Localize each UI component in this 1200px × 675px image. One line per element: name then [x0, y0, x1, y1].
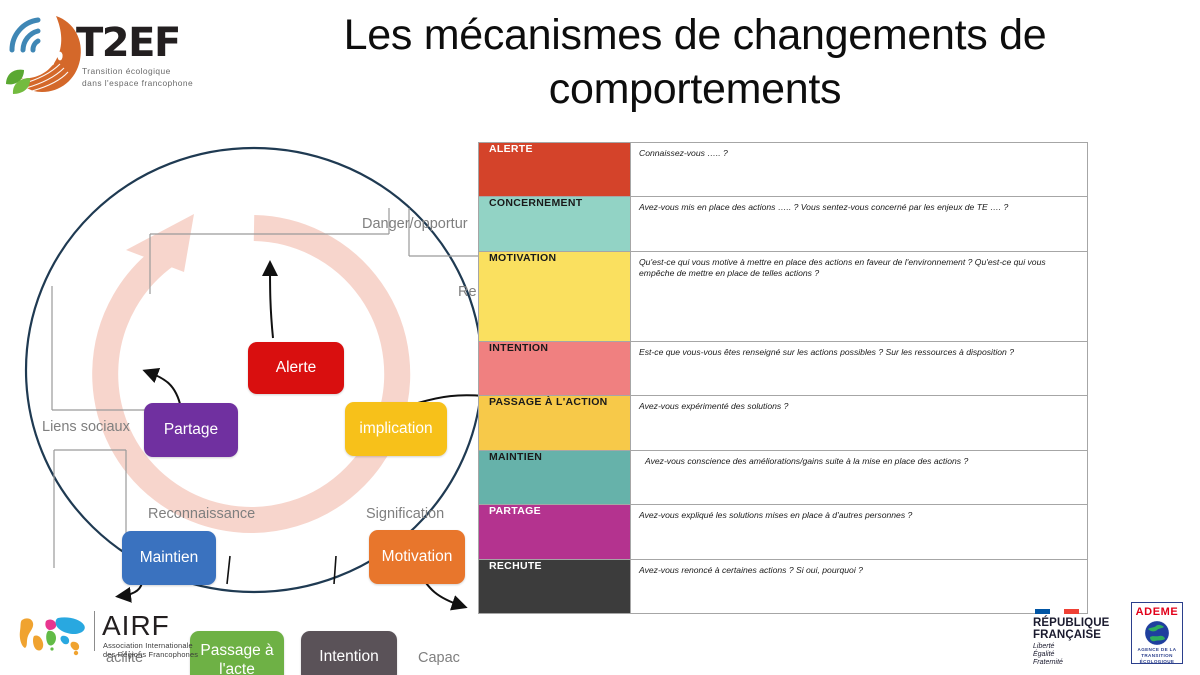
diagram-label-re: Re [458, 284, 477, 300]
stage-cell: RECHUTE [479, 559, 631, 613]
diagram-node-label: Maintien [140, 549, 199, 567]
diagram-node-intention[interactable]: Intention [301, 631, 397, 675]
ademe-wordmark: ADEME [1132, 606, 1182, 618]
airf-wordmark: AIRF [102, 610, 170, 642]
diagram-node-label: Alerte [276, 359, 317, 377]
french-flag-icon [1035, 609, 1079, 614]
stage-cell: PARTAGE [479, 505, 631, 559]
table-row: MOTIVATION Qu'est-ce qui vous motive à m… [479, 251, 1088, 341]
question-text: Avez-vous expliqué les solutions mises e… [639, 510, 912, 520]
stage-cell: MOTIVATION [479, 251, 631, 341]
ademe-logo: ADEME AGENCE DE LA TRANSITION ÉCOLOGIQUE [1131, 602, 1183, 664]
diagram-node-motivation[interactable]: Motivation [369, 530, 465, 584]
question-cell: Connaissez-vous ….. ? [631, 143, 1088, 197]
rf-line1: RÉPUBLIQUE [1033, 617, 1109, 629]
stage-cell: ALERTE [479, 143, 631, 197]
diagram-node-alerte[interactable]: Alerte [248, 342, 344, 394]
republique-francaise-logo: RÉPUBLIQUE FRANÇAISE Liberté Égalité Fra… [1033, 609, 1125, 667]
stage-cell: PASSAGE À L'ACTION [479, 396, 631, 450]
question-cell: Avez-vous mis en place des actions ….. ?… [631, 197, 1088, 251]
question-text: Connaissez-vous ….. ? [639, 148, 728, 158]
table-row: RECHUTE Avez-vous renoncé à certaines ac… [479, 559, 1088, 613]
stage-cell: INTENTION [479, 341, 631, 395]
question-text: Avez-vous mis en place des actions ….. ?… [639, 202, 1008, 212]
table-row: PASSAGE À L'ACTION Avez-vous expérimenté… [479, 396, 1088, 450]
slide-canvas: Les mécanismes de changements de comport… [0, 0, 1200, 675]
t2ef-wordmark: T2EF [76, 20, 180, 66]
globe-icon [1144, 620, 1170, 646]
diagram-node-label: implication [359, 420, 432, 438]
diagram-node-label: Motivation [382, 548, 453, 566]
question-text: Avez-vous conscience des améliorations/g… [639, 456, 968, 466]
t2ef-tagline-line1: Transition écologique [82, 66, 171, 76]
diagram-label-capacite: Capac [418, 650, 460, 666]
question-cell: Avez-vous expliqué les solutions mises e… [631, 505, 1088, 559]
question-text: Avez-vous renoncé à certaines actions ? … [639, 565, 863, 575]
stage-label: MOTIVATION [489, 252, 556, 264]
diagram-node-implication[interactable]: implication [345, 402, 447, 456]
ademe-sub-line2: TRANSITION [1132, 653, 1182, 658]
table-row: CONCERNEMENT Avez-vous mis en place des … [479, 197, 1088, 251]
question-cell: Avez-vous renoncé à certaines actions ? … [631, 559, 1088, 613]
ademe-sub-line1: AGENCE DE LA [1132, 647, 1182, 652]
stage-label: PASSAGE À L'ACTION [489, 396, 608, 408]
world-map-icon [16, 612, 90, 658]
behaviour-change-cycle-diagram: Alerte implication Motivation Intention … [18, 138, 490, 616]
airf-divider [94, 611, 95, 651]
rf-motto-fraternite: Fraternité [1033, 659, 1063, 666]
diagram-label-danger-opportunite: Danger/opportur [362, 216, 468, 232]
question-cell: Avez-vous expérimenté des solutions ? [631, 396, 1088, 450]
table-row: PARTAGE Avez-vous expliqué les solutions… [479, 505, 1088, 559]
stage-label: ALERTE [489, 143, 533, 155]
stage-label: RECHUTE [489, 560, 542, 572]
question-cell: Qu'est-ce qui vous motive à mettre en pl… [631, 251, 1088, 341]
rf-motto-egalite: Égalité [1033, 651, 1054, 658]
stage-cell: MAINTIEN [479, 450, 631, 504]
diagram-node-label: Partage [164, 421, 218, 439]
stage-label: CONCERNEMENT [489, 197, 582, 209]
table-row: MAINTIEN Avez-vous conscience des amélio… [479, 450, 1088, 504]
diagram-label-liens-sociaux: Liens sociaux [42, 419, 130, 435]
page-title: Les mécanismes de changements de comport… [255, 8, 1135, 116]
diagram-node-label: Intention [319, 648, 378, 666]
table-row: ALERTE Connaissez-vous ….. ? [479, 143, 1088, 197]
rf-motto-liberte: Liberté [1033, 643, 1054, 650]
diagram-node-maintien[interactable]: Maintien [122, 531, 216, 585]
airf-subtitle-line1: Association Internationale [103, 641, 193, 650]
rf-line2: FRANÇAISE [1033, 629, 1101, 641]
question-text: Est-ce que vous-vous êtes renseigné sur … [639, 347, 1014, 357]
question-cell: Est-ce que vous-vous êtes renseigné sur … [631, 341, 1088, 395]
t2ef-tagline-line2: dans l'espace francophone [82, 78, 193, 88]
question-cell: Avez-vous conscience des améliorations/g… [631, 450, 1088, 504]
t2ef-logo: T2EF Transition écologique dans l'espace… [4, 4, 204, 114]
stage-label: PARTAGE [489, 505, 541, 517]
stages-questions-table: ALERTE Connaissez-vous ….. ? CONCERNEMEN… [478, 142, 1088, 614]
airf-subtitle-line2: des Régions Francophones [103, 650, 198, 659]
stage-cell: CONCERNEMENT [479, 197, 631, 251]
question-text: Qu'est-ce qui vous motive à mettre en pl… [639, 257, 1046, 278]
question-text: Avez-vous expérimenté des solutions ? [639, 401, 788, 411]
ellipse-ticks [227, 556, 336, 584]
stage-label: MAINTIEN [489, 451, 542, 463]
stage-label: INTENTION [489, 342, 548, 354]
diagram-label-signification: Signification [366, 506, 444, 522]
diagram-label-reconnaissance: Reconnaissance [148, 506, 255, 522]
ademe-sub-line3: ÉCOLOGIQUE [1132, 659, 1182, 664]
airf-logo: AIRF Association Internationale des Régi… [14, 608, 214, 664]
table-row: INTENTION Est-ce que vous-vous êtes rens… [479, 341, 1088, 395]
diagram-node-partage[interactable]: Partage [144, 403, 238, 457]
